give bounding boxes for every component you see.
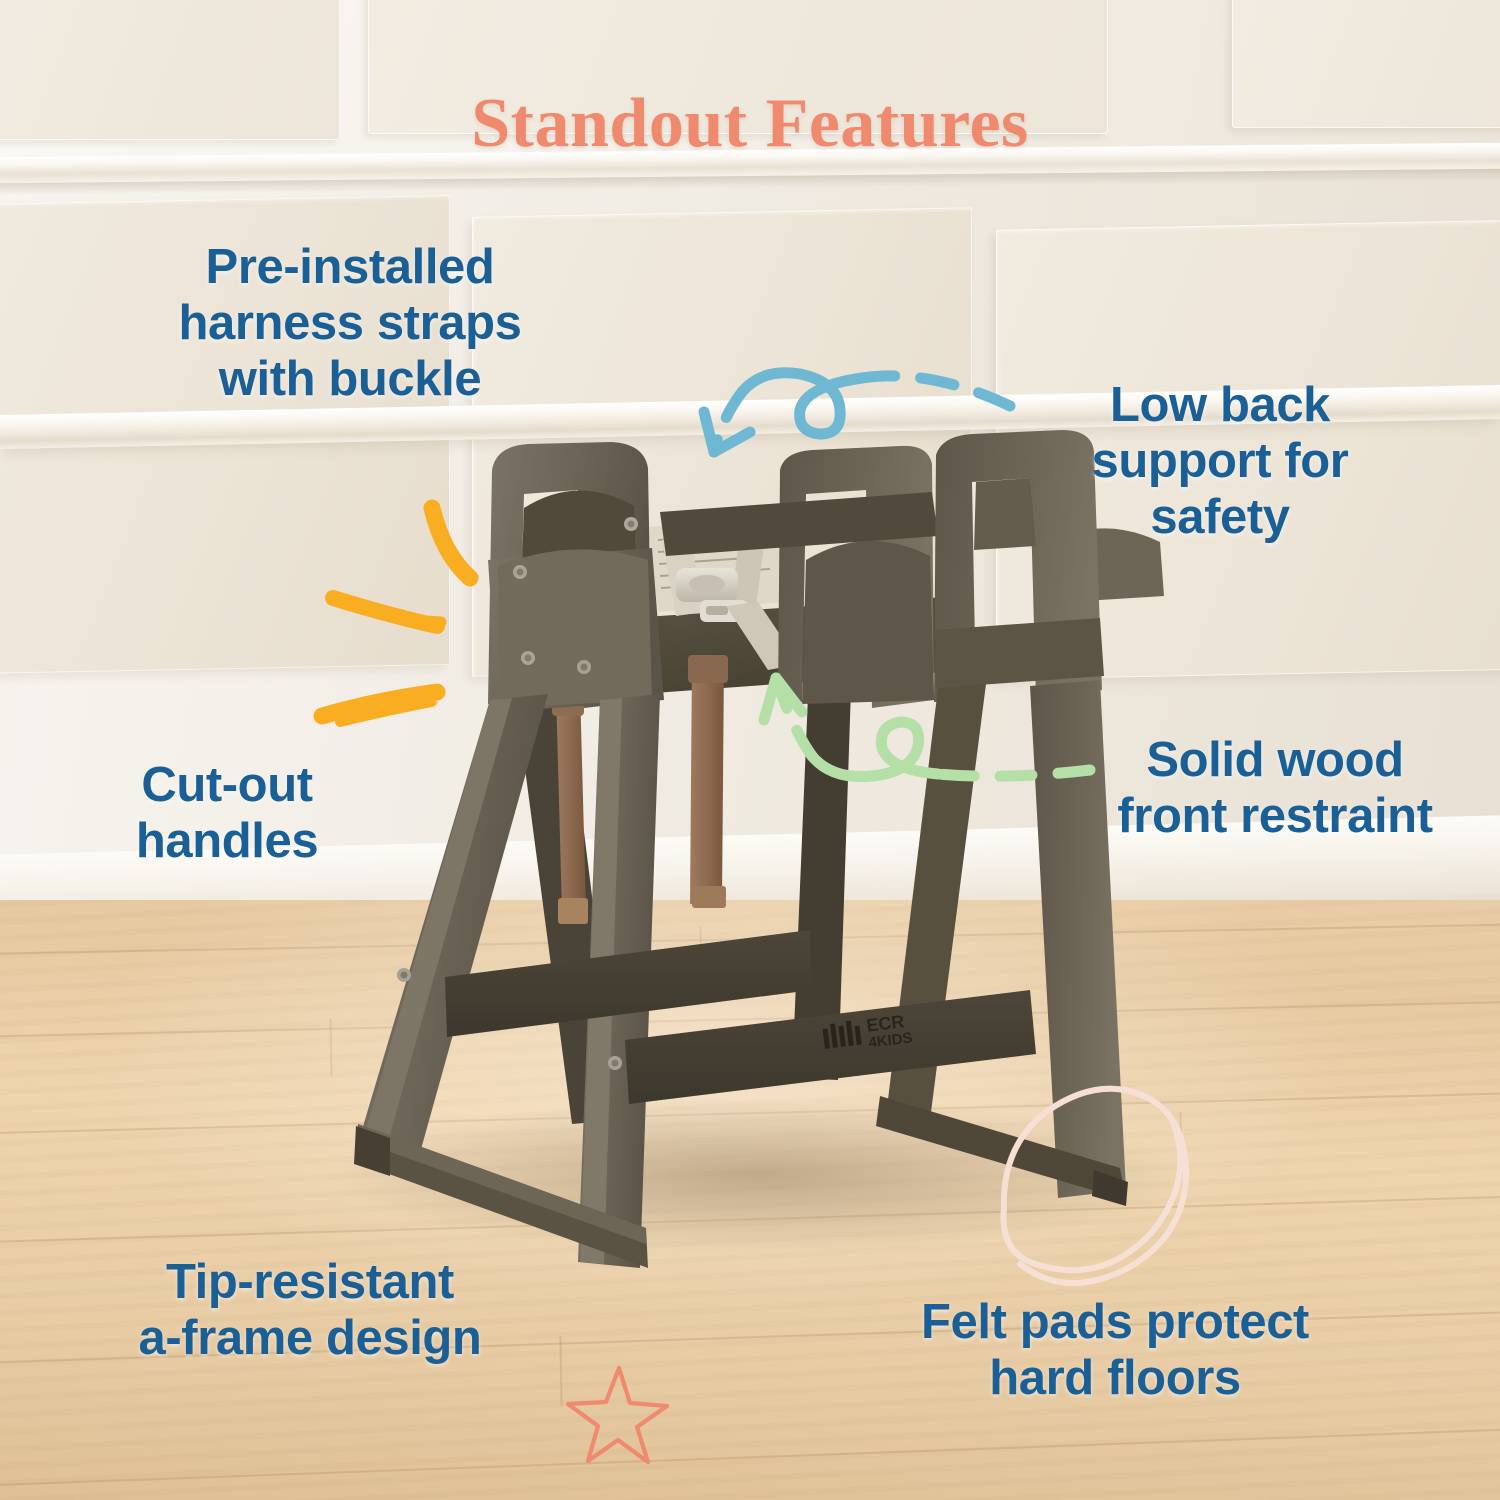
screw-slot [401, 972, 408, 979]
screw-slot [628, 521, 635, 528]
strap-left-tip [558, 898, 588, 924]
callout-label-solid-wood: Solid wood front restraint [1065, 733, 1485, 845]
callout-label-low-back: Low back support for safety [1010, 378, 1430, 546]
chair-right-back-panel [802, 541, 934, 704]
callout-label-harness: Pre-installed harness straps with buckle [100, 240, 600, 408]
chair-right-lower-rail [934, 618, 1104, 688]
screw-slot [517, 569, 524, 576]
screw-slot [612, 1060, 619, 1067]
page-title: Standout Features [0, 84, 1500, 164]
callout-label-felt-pads: Felt pads protect hard floors [845, 1295, 1385, 1407]
screw-slot [581, 664, 588, 671]
strap-center-tip [692, 886, 726, 908]
infographic-canvas: ECR 4KIDS [0, 0, 1500, 1500]
strap-center-loop [688, 655, 728, 683]
screw-slot [525, 655, 532, 662]
callout-label-cut-out-handles: Cut-out handles [62, 758, 392, 870]
harness-buckle-slot [706, 606, 728, 615]
harness-buckle-button [689, 575, 725, 593]
callout-label-tip-resistant: Tip-resistant a-frame design [50, 1255, 570, 1367]
hanging-strap-center [690, 658, 724, 904]
